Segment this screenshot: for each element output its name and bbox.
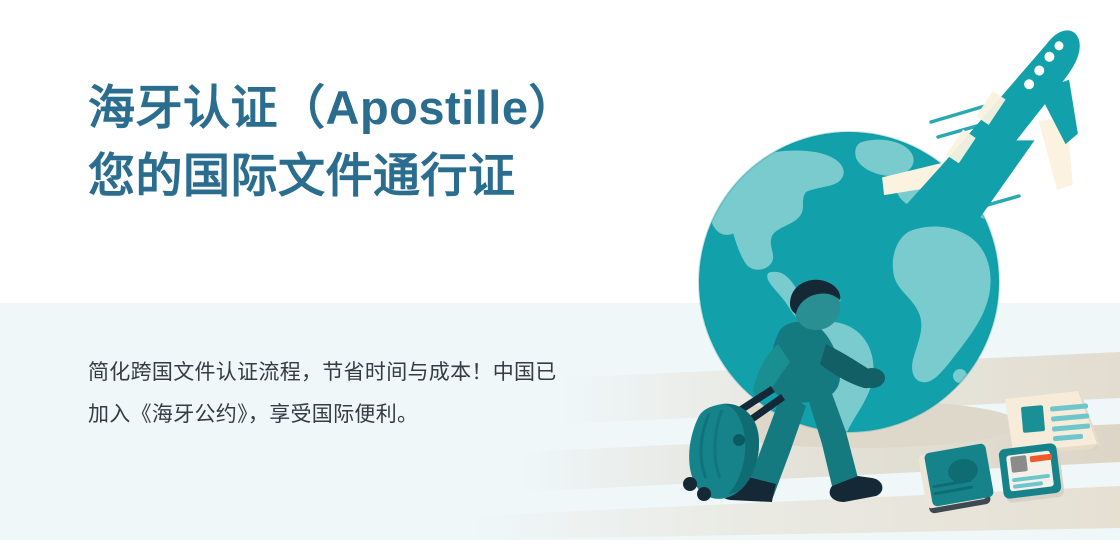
background-footer-strip — [0, 540, 1120, 549]
page-subtitle: 简化跨国文件认证流程，节省时间与成本！中国已 加入《海牙公约》，享受国际便利。 — [88, 352, 648, 436]
headline-line-2: 您的国际文件通行证 — [88, 142, 708, 210]
subcopy-line-2: 加入《海牙公约》，享受国际便利。 — [88, 394, 648, 436]
apostille-hero-banner: 海牙认证（Apostille） 您的国际文件通行证 简化跨国文件认证流程，节省时… — [0, 0, 1120, 549]
page-title: 海牙认证（Apostille） 您的国际文件通行证 — [88, 74, 708, 210]
subcopy-line-1: 简化跨国文件认证流程，节省时间与成本！中国已 — [88, 352, 648, 394]
headline-line-1: 海牙认证（Apostille） — [88, 74, 708, 142]
